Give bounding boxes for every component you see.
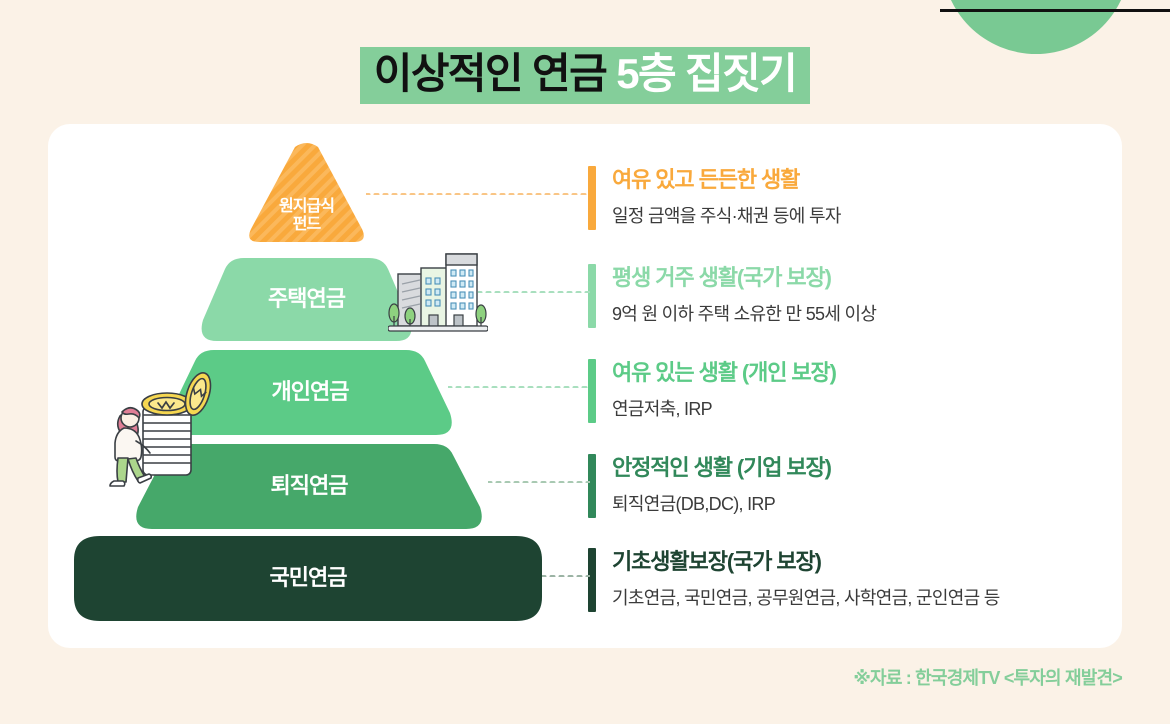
- title-light-text: 5층 집짓기: [616, 50, 796, 97]
- connector-line-1: [366, 193, 590, 195]
- row-2-heading: 평생 거주 생활(국가 보장): [612, 265, 876, 291]
- pyramid-tier-3-label: 개인연금: [272, 380, 349, 405]
- accent-bar-4: [588, 454, 596, 518]
- content-card: 원지급식 펀드 주택연금 개인연금: [48, 124, 1122, 648]
- description-row-1[interactable]: 여유 있고 든든한 생활 일정 금액을 주식·채권 등에 투자: [588, 166, 1122, 230]
- row-4-sub: 퇴직연금(DB,DC), IRP: [612, 490, 831, 516]
- row-1-heading: 여유 있고 든든한 생활: [612, 167, 841, 193]
- title-dark-text: 이상적인 연금: [374, 50, 616, 97]
- row-5-text: 기초생활보장(국가 보장) 기초연금, 국민연금, 공무원연금, 사학연금, 군…: [612, 548, 1000, 612]
- description-row-3[interactable]: 여유 있는 생활 (개인 보장) 연금저축, IRP: [588, 359, 1122, 423]
- coin-stack-person-icon: [106, 371, 221, 496]
- pyramid-tier-4-label: 퇴직연금: [271, 474, 348, 499]
- row-5-sub: 기초연금, 국민연금, 공무원연금, 사학연금, 군인연금 등: [612, 584, 1000, 610]
- office-buildings-icon: [388, 246, 488, 336]
- infographic-canvas: 이상적인 연금 5층 집짓기: [0, 0, 1170, 724]
- description-row-4[interactable]: 안정적인 생활 (기업 보장) 퇴직연금(DB,DC), IRP: [588, 454, 1122, 518]
- pyramid-tier-2-label: 주택연금: [268, 287, 345, 312]
- accent-bar-1: [588, 166, 596, 230]
- accent-bar-5: [588, 548, 596, 612]
- description-row-2[interactable]: 평생 거주 생활(국가 보장) 9억 원 이하 주택 소유한 만 55세 이상: [588, 264, 1122, 328]
- pyramid-tier-1[interactable]: 원지급식 펀드: [244, 137, 369, 247]
- accent-bar-2: [588, 264, 596, 328]
- row-2-text: 평생 거주 생활(국가 보장) 9억 원 이하 주택 소유한 만 55세 이상: [612, 264, 876, 328]
- connector-line-2: [478, 291, 590, 293]
- title-highlight-band: 이상적인 연금 5층 집짓기: [360, 47, 810, 104]
- page-title: 이상적인 연금 5층 집짓기: [0, 47, 1170, 104]
- row-5-heading: 기초생활보장(국가 보장): [612, 549, 1000, 575]
- source-note: ※자료 : 한국경제TV <투자의 재발견>: [853, 664, 1122, 690]
- connector-line-5: [542, 575, 590, 577]
- row-3-sub: 연금저축, IRP: [612, 395, 836, 421]
- description-row-5[interactable]: 기초생활보장(국가 보장) 기초연금, 국민연금, 공무원연금, 사학연금, 군…: [588, 548, 1122, 612]
- tier-1-label-line1: 원지급식: [244, 198, 369, 216]
- pyramid-tier-1-label: 원지급식 펀드: [244, 150, 369, 234]
- connector-line-4: [488, 481, 590, 483]
- pyramid-tier-5-label: 국민연금: [270, 566, 347, 591]
- decorative-rule: [940, 9, 1170, 12]
- row-1-sub: 일정 금액을 주식·채권 등에 투자: [612, 202, 841, 228]
- accent-bar-3: [588, 359, 596, 423]
- connector-line-3: [448, 386, 590, 388]
- tier-1-label-line2: 펀드: [244, 216, 369, 234]
- row-1-text: 여유 있고 든든한 생활 일정 금액을 주식·채권 등에 투자: [612, 166, 841, 230]
- row-2-sub: 9억 원 이하 주택 소유한 만 55세 이상: [612, 300, 876, 326]
- row-4-text: 안정적인 생활 (기업 보장) 퇴직연금(DB,DC), IRP: [612, 454, 831, 518]
- row-4-heading: 안정적인 생활 (기업 보장): [612, 455, 831, 481]
- description-list: 여유 있고 든든한 생활 일정 금액을 주식·채권 등에 투자 평생 거주 생활…: [588, 124, 1122, 648]
- row-3-heading: 여유 있는 생활 (개인 보장): [612, 360, 836, 386]
- pyramid-tier-2[interactable]: 주택연금: [200, 258, 413, 341]
- pyramid-tier-5[interactable]: 국민연금: [74, 536, 542, 621]
- row-3-text: 여유 있는 생활 (개인 보장) 연금저축, IRP: [612, 359, 836, 423]
